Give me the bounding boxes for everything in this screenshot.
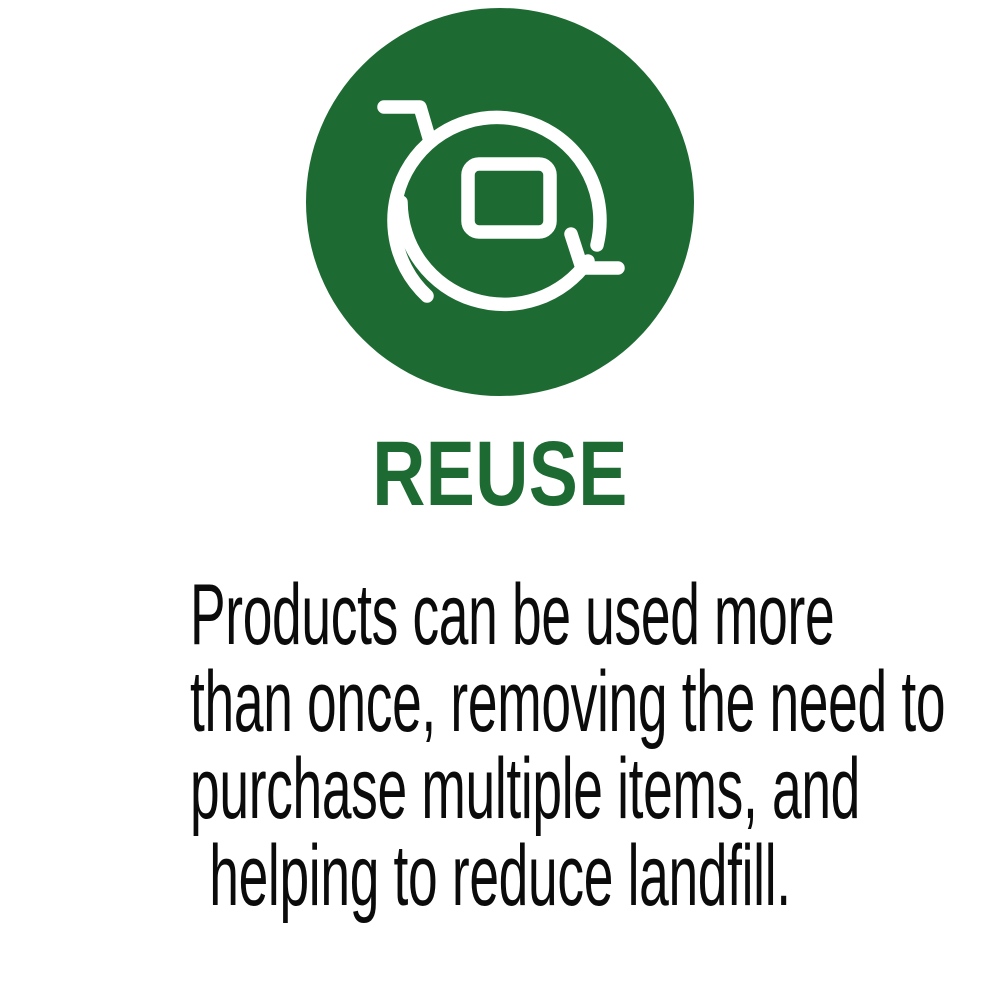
- description-text: Products can be used more than once, rem…: [0, 572, 1000, 920]
- description-line: helping to reduce landfill.: [190, 833, 810, 920]
- reuse-cycle-icon: [306, 8, 694, 396]
- page-title: REUSE: [100, 428, 900, 520]
- badge-circle: [306, 8, 694, 396]
- description-line: than once, removing the need to: [190, 659, 810, 746]
- description-line: purchase multiple items, and: [190, 746, 810, 833]
- reuse-infographic-card: REUSE Products can be used more than onc…: [0, 0, 1000, 1000]
- description-line: Products can be used more: [190, 572, 810, 659]
- icon-badge-container: [0, 8, 1000, 398]
